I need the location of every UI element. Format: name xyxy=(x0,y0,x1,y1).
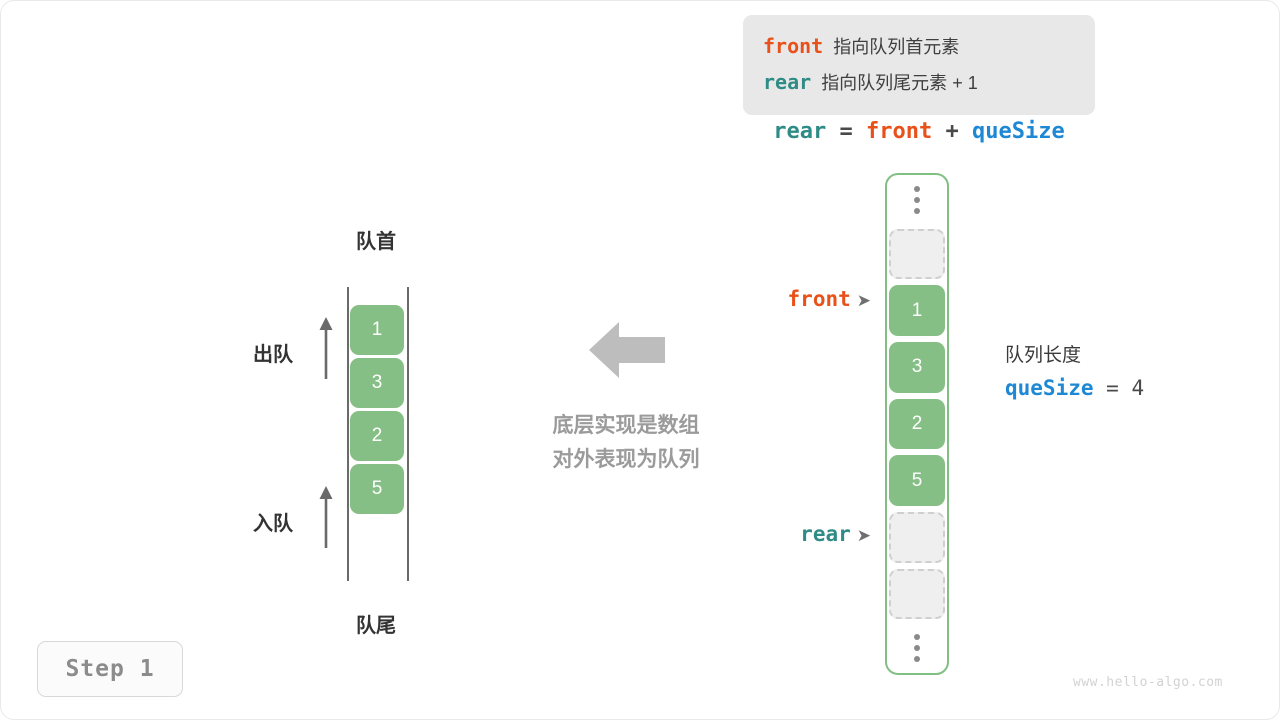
pointer-front: front➤ xyxy=(701,287,871,312)
watermark: www.hello-algo.com xyxy=(1073,675,1223,690)
enqueue-arrow-icon xyxy=(315,484,337,550)
pointer-rear: rear➤ xyxy=(701,522,871,547)
dequeue-label: 出队 xyxy=(253,338,293,367)
ellipsis-bottom-icon xyxy=(914,622,920,673)
center-caption: 底层实现是数组 对外表现为队列 xyxy=(501,409,751,477)
array-cell xyxy=(889,569,945,620)
queue-tail-label: 队尾 xyxy=(301,609,451,638)
queue-cell: 1 xyxy=(350,305,404,355)
array-cell: 1 xyxy=(889,285,945,336)
legend-line-front: front 指向队列首元素 xyxy=(763,29,1095,65)
enqueue-label: 入队 xyxy=(253,507,293,536)
queue-head-label: 队首 xyxy=(301,225,451,254)
array-cell: 5 xyxy=(889,455,945,506)
queue-rail-left xyxy=(347,287,349,581)
array-cell xyxy=(889,229,945,280)
legend-text-front: 指向队列首元素 xyxy=(833,37,959,57)
queue-cell: 2 xyxy=(350,411,404,461)
equation-rhs-front: front xyxy=(866,119,932,144)
queue-size-title: 队列长度 xyxy=(1005,341,1235,371)
center-caption-line2: 对外表现为队列 xyxy=(501,443,751,477)
array-cell xyxy=(889,512,945,563)
array-cell: 2 xyxy=(889,399,945,450)
pointer-rear-label: rear xyxy=(800,522,851,546)
dequeue-arrow-icon xyxy=(315,315,337,381)
arrow-right-icon: ➤ xyxy=(857,291,871,310)
queue-size-note: 队列长度 queSize = 4 xyxy=(1005,341,1235,406)
queue-cell: 5 xyxy=(350,464,404,514)
equation-plus: + xyxy=(946,119,959,144)
pointer-legend-box: front 指向队列首元素 rear 指向队列尾元素 + 1 xyxy=(743,15,1095,115)
array-cell: 3 xyxy=(889,342,945,393)
left-arrow-icon xyxy=(589,319,665,381)
queue-size-value: 4 xyxy=(1131,376,1144,400)
queue-size-equals: = xyxy=(1106,376,1119,400)
pointer-front-label: front xyxy=(788,287,851,311)
legend-text-rear: 指向队列尾元素 + 1 xyxy=(821,73,978,93)
queue-cell: 3 xyxy=(350,358,404,408)
arrow-right-icon: ➤ xyxy=(857,526,871,545)
step-badge: Step 1 xyxy=(37,641,183,697)
array-container: 1 3 2 5 xyxy=(885,173,949,675)
equation-equals: = xyxy=(840,119,853,144)
center-caption-line1: 底层实现是数组 xyxy=(501,409,751,443)
legend-token-rear: rear xyxy=(763,70,811,94)
ellipsis-top-icon xyxy=(914,175,920,226)
queue-rail-right xyxy=(407,287,409,581)
diagram-canvas: front 指向队列首元素 rear 指向队列尾元素 + 1 rear = fr… xyxy=(0,0,1280,720)
queue-size-name: queSize xyxy=(1005,376,1094,400)
equation-rhs-quesize: queSize xyxy=(972,119,1065,144)
equation-lhs: rear xyxy=(773,119,826,144)
legend-token-front: front xyxy=(763,34,823,58)
rear-equation: rear = front + queSize xyxy=(743,119,1095,144)
legend-line-rear: rear 指向队列尾元素 + 1 xyxy=(763,65,1095,101)
